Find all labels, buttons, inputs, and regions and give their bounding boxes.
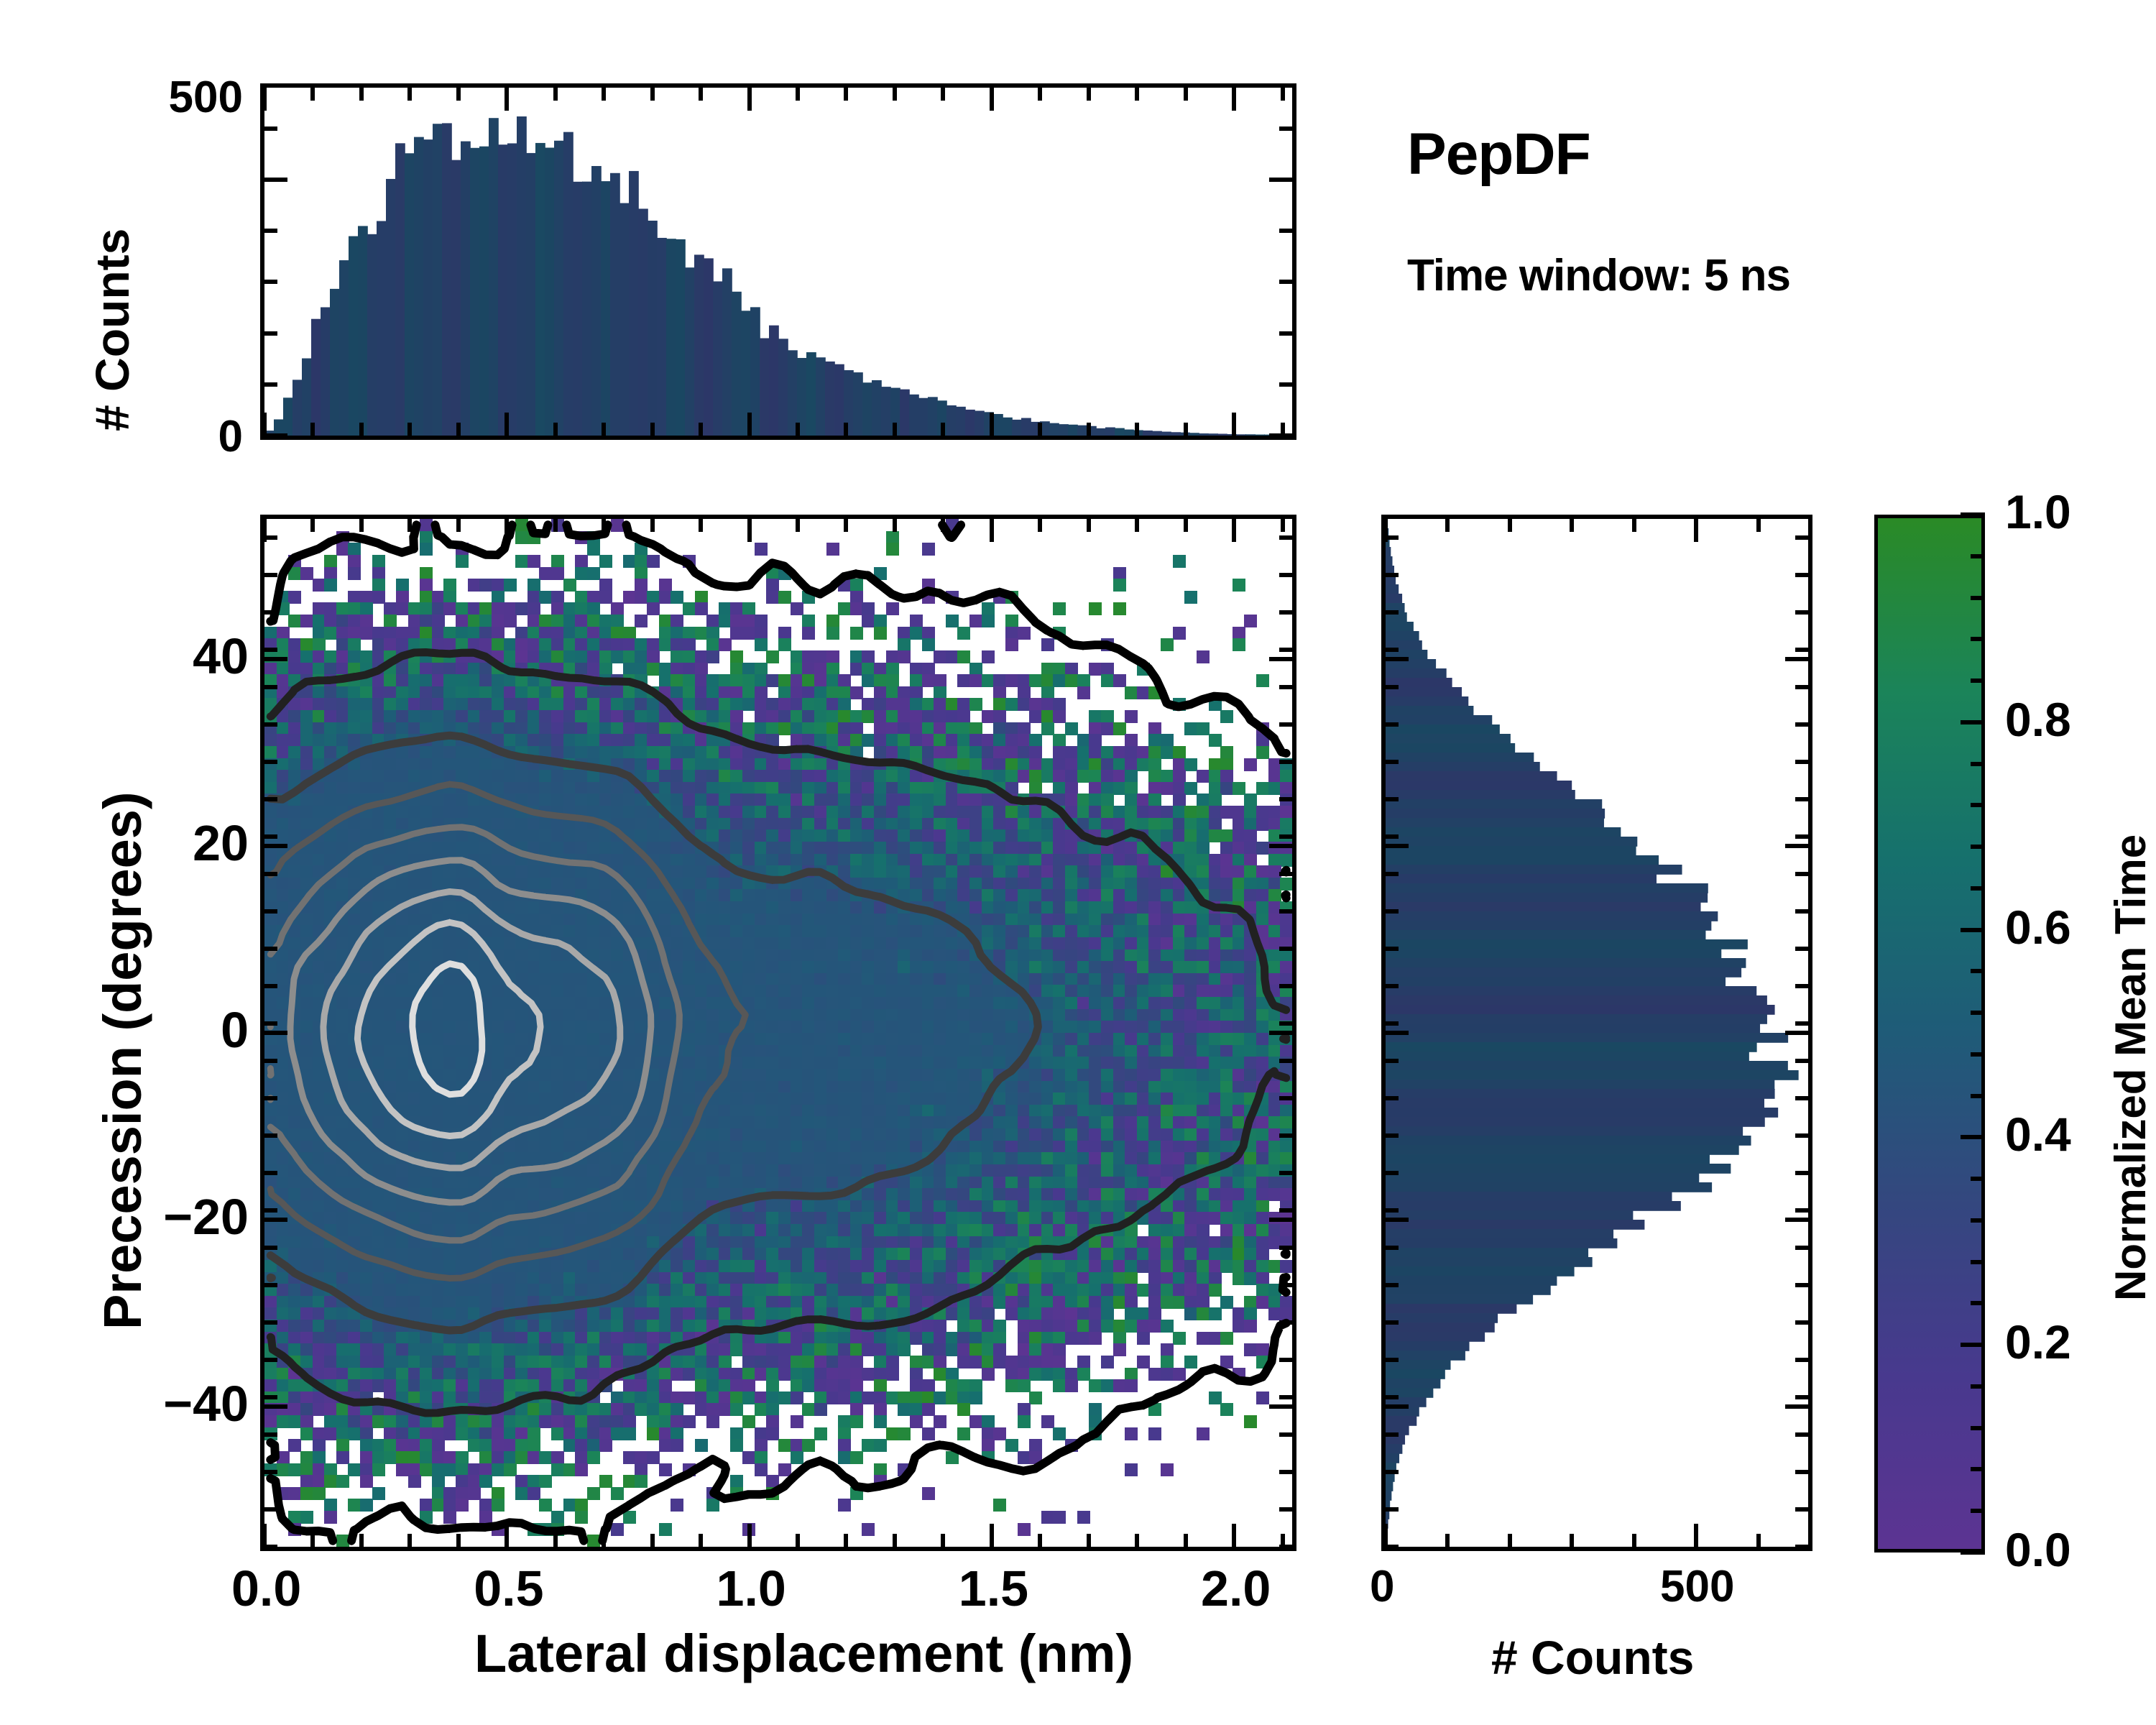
tick-mark <box>990 413 994 436</box>
tick-mark <box>1971 1301 1985 1305</box>
tick-mark <box>1269 657 1292 661</box>
tick-mark <box>264 1283 277 1287</box>
tick-mark <box>1961 720 1985 724</box>
tick-mark <box>699 423 703 436</box>
tick-mark <box>747 519 752 542</box>
tick-mark <box>1971 1467 1985 1471</box>
tick-mark <box>1795 1545 1808 1549</box>
tick-mark <box>264 1031 287 1035</box>
tick-mark <box>1279 984 1292 988</box>
tick-mark <box>1785 1031 1808 1035</box>
main-xtick-label: 1.5 <box>959 1560 1028 1617</box>
tick-mark <box>1795 1283 1808 1287</box>
tick-mark <box>990 88 994 111</box>
tick-mark <box>407 1534 412 1547</box>
tick-mark <box>1386 1171 1399 1175</box>
main-xtick-label: 0.5 <box>474 1560 543 1617</box>
tick-mark <box>264 1021 277 1026</box>
tick-mark <box>1279 722 1292 727</box>
tick-mark <box>264 126 277 131</box>
tick-mark <box>1184 88 1188 101</box>
tick-mark <box>1386 1358 1399 1362</box>
tick-mark <box>1795 1133 1808 1138</box>
tick-mark <box>1269 1031 1292 1035</box>
tick-mark <box>1135 88 1139 101</box>
tick-mark <box>264 872 277 876</box>
right-histogram-canvas <box>1386 519 1808 1547</box>
tick-mark <box>1386 1059 1399 1063</box>
tick-mark <box>1971 1052 1985 1057</box>
tick-mark <box>264 573 277 577</box>
tick-mark <box>1281 88 1285 101</box>
tick-mark <box>1632 519 1636 532</box>
tick-mark <box>1386 872 1399 876</box>
tick-mark <box>1971 845 1985 849</box>
tick-mark <box>264 331 277 336</box>
tick-mark <box>1795 1320 1808 1325</box>
tick-mark <box>1386 844 1409 848</box>
tick-mark <box>893 88 897 101</box>
tick-mark <box>264 1171 277 1175</box>
tick-mark <box>1279 834 1292 839</box>
tick-mark <box>1279 1246 1292 1250</box>
tick-mark <box>1795 1470 1808 1474</box>
tick-mark <box>1386 685 1399 689</box>
tick-mark <box>1279 685 1292 689</box>
tick-mark <box>1971 1218 1985 1223</box>
tick-mark <box>1795 1358 1808 1362</box>
tick-mark <box>264 1432 277 1437</box>
tick-mark <box>310 519 315 532</box>
tick-mark <box>264 648 277 652</box>
tick-mark <box>1785 1218 1808 1222</box>
main-xtick-label: 2.0 <box>1201 1560 1271 1617</box>
tick-mark <box>264 1470 277 1474</box>
tick-mark <box>602 88 606 101</box>
tick-mark <box>1795 872 1808 876</box>
tick-mark <box>990 1524 994 1547</box>
tick-mark <box>1386 1218 1409 1222</box>
tick-mark <box>844 423 848 436</box>
tick-mark <box>264 844 287 848</box>
tick-mark <box>1961 928 1985 932</box>
tick-mark <box>1971 1011 1985 1015</box>
panel-title: PepDF <box>1407 121 1590 188</box>
tick-mark <box>1961 1550 1985 1555</box>
tick-mark <box>796 423 800 436</box>
tick-mark <box>1386 1283 1399 1287</box>
tick-mark <box>1279 1096 1292 1100</box>
tick-mark <box>1795 535 1808 540</box>
tick-mark <box>1386 1404 1409 1409</box>
tick-mark <box>264 280 277 284</box>
tick-mark <box>1279 126 1292 131</box>
tick-mark <box>1508 1534 1512 1547</box>
tick-mark <box>1386 722 1399 727</box>
tick-mark <box>1795 1246 1808 1250</box>
tick-mark <box>1386 535 1399 540</box>
tick-mark <box>1383 1524 1388 1547</box>
tick-mark <box>264 1545 277 1549</box>
tick-mark <box>407 519 412 532</box>
tick-mark <box>699 519 703 532</box>
tick-mark <box>1386 1133 1399 1138</box>
tick-mark <box>505 1524 509 1547</box>
tick-mark <box>1971 637 1985 641</box>
tick-mark <box>796 1534 800 1547</box>
tick-mark <box>1279 1059 1292 1063</box>
tick-mark <box>1386 1031 1409 1035</box>
tick-mark <box>1795 834 1808 839</box>
tick-mark <box>1279 1507 1292 1512</box>
colorbar <box>1874 515 1985 1552</box>
tick-mark <box>699 88 703 101</box>
tick-mark <box>1087 519 1091 532</box>
tick-mark <box>1386 573 1399 577</box>
tick-mark <box>941 519 945 532</box>
tick-mark <box>1961 512 1985 517</box>
tick-mark <box>1279 573 1292 577</box>
tick-mark <box>1281 423 1285 436</box>
tick-mark <box>1279 909 1292 914</box>
tick-mark <box>1445 519 1450 532</box>
tick-mark <box>264 984 277 988</box>
tick-mark <box>1386 657 1409 661</box>
tick-mark <box>1795 797 1808 801</box>
tick-mark <box>1087 423 1091 436</box>
tick-mark <box>1232 413 1236 436</box>
tick-mark <box>1386 1096 1399 1100</box>
tick-mark <box>310 1534 315 1547</box>
tick-mark <box>1269 1404 1292 1409</box>
tick-mark <box>1386 834 1399 839</box>
tick-mark <box>1795 1432 1808 1437</box>
tick-mark <box>1184 1534 1188 1547</box>
tick-mark <box>264 657 287 661</box>
tick-mark <box>1785 844 1808 848</box>
tick-mark <box>1795 1171 1808 1175</box>
tick-mark <box>1386 610 1399 615</box>
tick-mark <box>1269 1218 1292 1222</box>
tick-mark <box>1694 519 1698 542</box>
tick-mark <box>650 423 655 436</box>
tick-mark <box>264 382 277 387</box>
tick-mark <box>1971 1094 1985 1098</box>
tick-mark <box>1279 1283 1292 1287</box>
tick-mark <box>1971 678 1985 683</box>
tick-mark <box>1087 1534 1091 1547</box>
tick-mark <box>1785 657 1808 661</box>
tick-mark <box>1135 423 1139 436</box>
tick-mark <box>359 423 364 436</box>
tick-mark <box>1795 1096 1808 1100</box>
tick-mark <box>1279 797 1292 801</box>
tick-mark <box>264 1246 277 1250</box>
tick-mark <box>1795 610 1808 615</box>
tick-mark <box>264 1059 277 1063</box>
tick-mark <box>941 1534 945 1547</box>
tick-mark <box>990 519 994 542</box>
tick-mark <box>407 88 412 101</box>
tick-mark <box>1971 1509 1985 1513</box>
tick-mark <box>1632 1534 1636 1547</box>
colorbar-tick-label: 0.2 <box>2005 1315 2071 1369</box>
tick-mark <box>262 413 267 436</box>
tick-mark <box>264 1395 277 1399</box>
tick-mark <box>1795 685 1808 689</box>
tick-mark <box>359 88 364 101</box>
tick-mark <box>1281 519 1285 532</box>
tick-mark <box>1386 1545 1399 1549</box>
tick-mark <box>1232 88 1236 111</box>
tick-mark <box>264 909 277 914</box>
main-xtick-label: 0.0 <box>231 1560 301 1617</box>
tick-mark <box>1795 947 1808 951</box>
colorbar-label: Normalized Mean Time <box>2106 834 2155 1301</box>
tick-mark <box>264 535 277 540</box>
tick-mark <box>1795 1507 1808 1512</box>
tick-mark <box>1756 1534 1761 1547</box>
tick-mark <box>264 433 287 438</box>
tick-mark <box>844 519 848 532</box>
right-histogram-xlabel: # Counts <box>1491 1630 1694 1685</box>
tick-mark <box>1279 1021 1292 1026</box>
tick-mark <box>1279 331 1292 336</box>
tick-mark <box>407 423 412 436</box>
right-hist-xtick-500: 500 <box>1660 1561 1734 1612</box>
tick-mark <box>456 88 461 101</box>
tick-mark <box>1038 423 1042 436</box>
tick-mark <box>1038 88 1042 101</box>
tick-mark <box>844 1534 848 1547</box>
tick-mark <box>553 519 558 532</box>
tick-mark <box>1971 596 1985 600</box>
tick-mark <box>1386 760 1399 764</box>
tick-mark <box>553 423 558 436</box>
tick-mark <box>602 519 606 532</box>
tick-mark <box>1795 648 1808 652</box>
tick-mark <box>264 178 287 182</box>
tick-mark <box>1971 762 1985 766</box>
tick-mark <box>602 1534 606 1547</box>
tick-mark <box>1386 1507 1399 1512</box>
panel-subtitle: Time window: 5 ns <box>1407 250 1790 301</box>
tick-mark <box>1279 1208 1292 1213</box>
colorbar-tick-label: 0.6 <box>2005 900 2071 954</box>
tick-mark <box>1971 886 1985 891</box>
tick-mark <box>1386 947 1399 951</box>
tick-mark <box>747 1524 752 1547</box>
tick-mark <box>553 88 558 101</box>
tick-mark <box>1135 1534 1139 1547</box>
tick-mark <box>1795 722 1808 727</box>
right-hist-xtick-0: 0 <box>1370 1561 1394 1612</box>
tick-mark <box>796 519 800 532</box>
tick-mark <box>1279 1358 1292 1362</box>
top-hist-ytick-0: 0 <box>218 411 243 462</box>
tick-mark <box>1386 648 1399 652</box>
colorbar-tick-label: 1.0 <box>2005 484 2071 539</box>
figure-root: 500 0 # Counts 0.00.51.01.52.0 −40−20020… <box>0 0 2156 1725</box>
tick-mark <box>264 797 277 801</box>
main-xlabel: Lateral displacement (nm) <box>474 1623 1133 1684</box>
tick-mark <box>1445 1534 1450 1547</box>
tick-mark <box>747 413 752 436</box>
tick-mark <box>1971 1384 1985 1389</box>
tick-mark <box>264 760 277 764</box>
tick-mark <box>747 88 752 111</box>
tick-mark <box>1279 1395 1292 1399</box>
tick-mark <box>264 229 277 233</box>
tick-mark <box>1279 872 1292 876</box>
tick-mark <box>1785 1404 1808 1409</box>
tick-mark <box>1279 648 1292 652</box>
tick-mark <box>796 88 800 101</box>
tick-mark <box>310 423 315 436</box>
tick-mark <box>1795 1059 1808 1063</box>
tick-mark <box>1386 797 1399 801</box>
tick-mark <box>505 413 509 436</box>
tick-mark <box>1386 909 1399 914</box>
tick-mark <box>1279 229 1292 233</box>
tick-mark <box>1279 1545 1292 1549</box>
tick-mark <box>1570 1534 1574 1547</box>
tick-mark <box>1386 1021 1399 1026</box>
tick-mark <box>264 1507 277 1512</box>
tick-mark <box>1232 519 1236 542</box>
tick-mark <box>1795 984 1808 988</box>
tick-mark <box>456 1534 461 1547</box>
tick-mark <box>1795 760 1808 764</box>
colorbar-tick-label: 0.8 <box>2005 692 2071 747</box>
tick-mark <box>1961 1343 1985 1347</box>
tick-mark <box>1269 844 1292 848</box>
colorbar-gradient <box>1878 518 1981 1549</box>
tick-mark <box>650 519 655 532</box>
tick-mark <box>264 1208 277 1213</box>
tick-mark <box>1971 554 1985 558</box>
tick-mark <box>1795 909 1808 914</box>
tick-mark <box>650 88 655 101</box>
tick-mark <box>264 1218 287 1222</box>
tick-mark <box>264 685 277 689</box>
tick-mark <box>1279 1432 1292 1437</box>
tick-mark <box>264 722 277 727</box>
tick-mark <box>1694 1524 1698 1547</box>
tick-mark <box>602 423 606 436</box>
tick-mark <box>893 519 897 532</box>
tick-mark <box>310 88 315 101</box>
tick-mark <box>264 1096 277 1100</box>
top-histogram-ylabel: # Counts <box>85 229 139 431</box>
tick-mark <box>1795 1395 1808 1399</box>
tick-mark <box>844 88 848 101</box>
tick-mark <box>1279 947 1292 951</box>
tick-mark <box>262 88 267 111</box>
tick-mark <box>264 1133 277 1138</box>
tick-mark <box>1038 519 1042 532</box>
tick-mark <box>1279 1320 1292 1325</box>
tick-mark <box>264 834 277 839</box>
tick-mark <box>1386 1246 1399 1250</box>
tick-mark <box>456 519 461 532</box>
tick-mark <box>1269 178 1292 182</box>
tick-mark <box>1570 519 1574 532</box>
main-heatmap-canvas <box>264 519 1292 1547</box>
main-ylabel: Precession (degrees) <box>92 791 153 1330</box>
tick-mark <box>1795 1021 1808 1026</box>
top-histogram-canvas <box>264 88 1292 436</box>
colorbar-tick-label: 0.0 <box>2005 1522 2071 1577</box>
tick-mark <box>1279 280 1292 284</box>
tick-mark <box>1279 760 1292 764</box>
colorbar-tick-label: 0.4 <box>2005 1107 2071 1161</box>
tick-mark <box>1135 519 1139 532</box>
tick-mark <box>1386 1320 1399 1325</box>
main-ytick-label: 40 <box>69 627 249 685</box>
tick-mark <box>1279 382 1292 387</box>
tick-mark <box>1971 1426 1985 1430</box>
tick-mark <box>553 1534 558 1547</box>
tick-mark <box>1038 1534 1042 1547</box>
tick-mark <box>1279 535 1292 540</box>
tick-mark <box>941 423 945 436</box>
tick-mark <box>264 610 277 615</box>
tick-mark <box>1971 803 1985 807</box>
tick-mark <box>893 1534 897 1547</box>
tick-mark <box>359 519 364 532</box>
tick-mark <box>1971 1177 1985 1181</box>
tick-mark <box>650 1534 655 1547</box>
tick-mark <box>264 947 277 951</box>
top-hist-ytick-500: 500 <box>169 72 243 123</box>
tick-mark <box>1756 519 1761 532</box>
tick-mark <box>264 1358 277 1362</box>
tick-mark <box>1386 1208 1399 1213</box>
tick-mark <box>264 1404 287 1409</box>
tick-mark <box>1279 1133 1292 1138</box>
tick-mark <box>1184 519 1188 532</box>
tick-mark <box>262 1524 267 1547</box>
main-ytick-label: −40 <box>69 1375 249 1432</box>
tick-mark <box>1386 984 1399 988</box>
tick-mark <box>1795 573 1808 577</box>
tick-mark <box>1971 1260 1985 1264</box>
tick-mark <box>1795 1208 1808 1213</box>
main-xtick-label: 1.0 <box>717 1560 786 1617</box>
tick-mark <box>264 1320 277 1325</box>
tick-mark <box>1184 423 1188 436</box>
tick-mark <box>505 88 509 111</box>
tick-mark <box>1961 1135 1985 1139</box>
tick-mark <box>1087 88 1091 101</box>
tick-mark <box>1279 1470 1292 1474</box>
tick-mark <box>456 423 461 436</box>
tick-mark <box>1386 1470 1399 1474</box>
tick-mark <box>1279 610 1292 615</box>
tick-mark <box>505 519 509 542</box>
tick-mark <box>1386 1395 1399 1399</box>
tick-mark <box>359 1534 364 1547</box>
tick-mark <box>1508 519 1512 532</box>
tick-mark <box>941 88 945 101</box>
tick-mark <box>1279 1171 1292 1175</box>
tick-mark <box>699 1534 703 1547</box>
tick-mark <box>893 423 897 436</box>
tick-mark <box>1232 1524 1236 1547</box>
tick-mark <box>1386 1432 1399 1437</box>
tick-mark <box>1971 969 1985 973</box>
